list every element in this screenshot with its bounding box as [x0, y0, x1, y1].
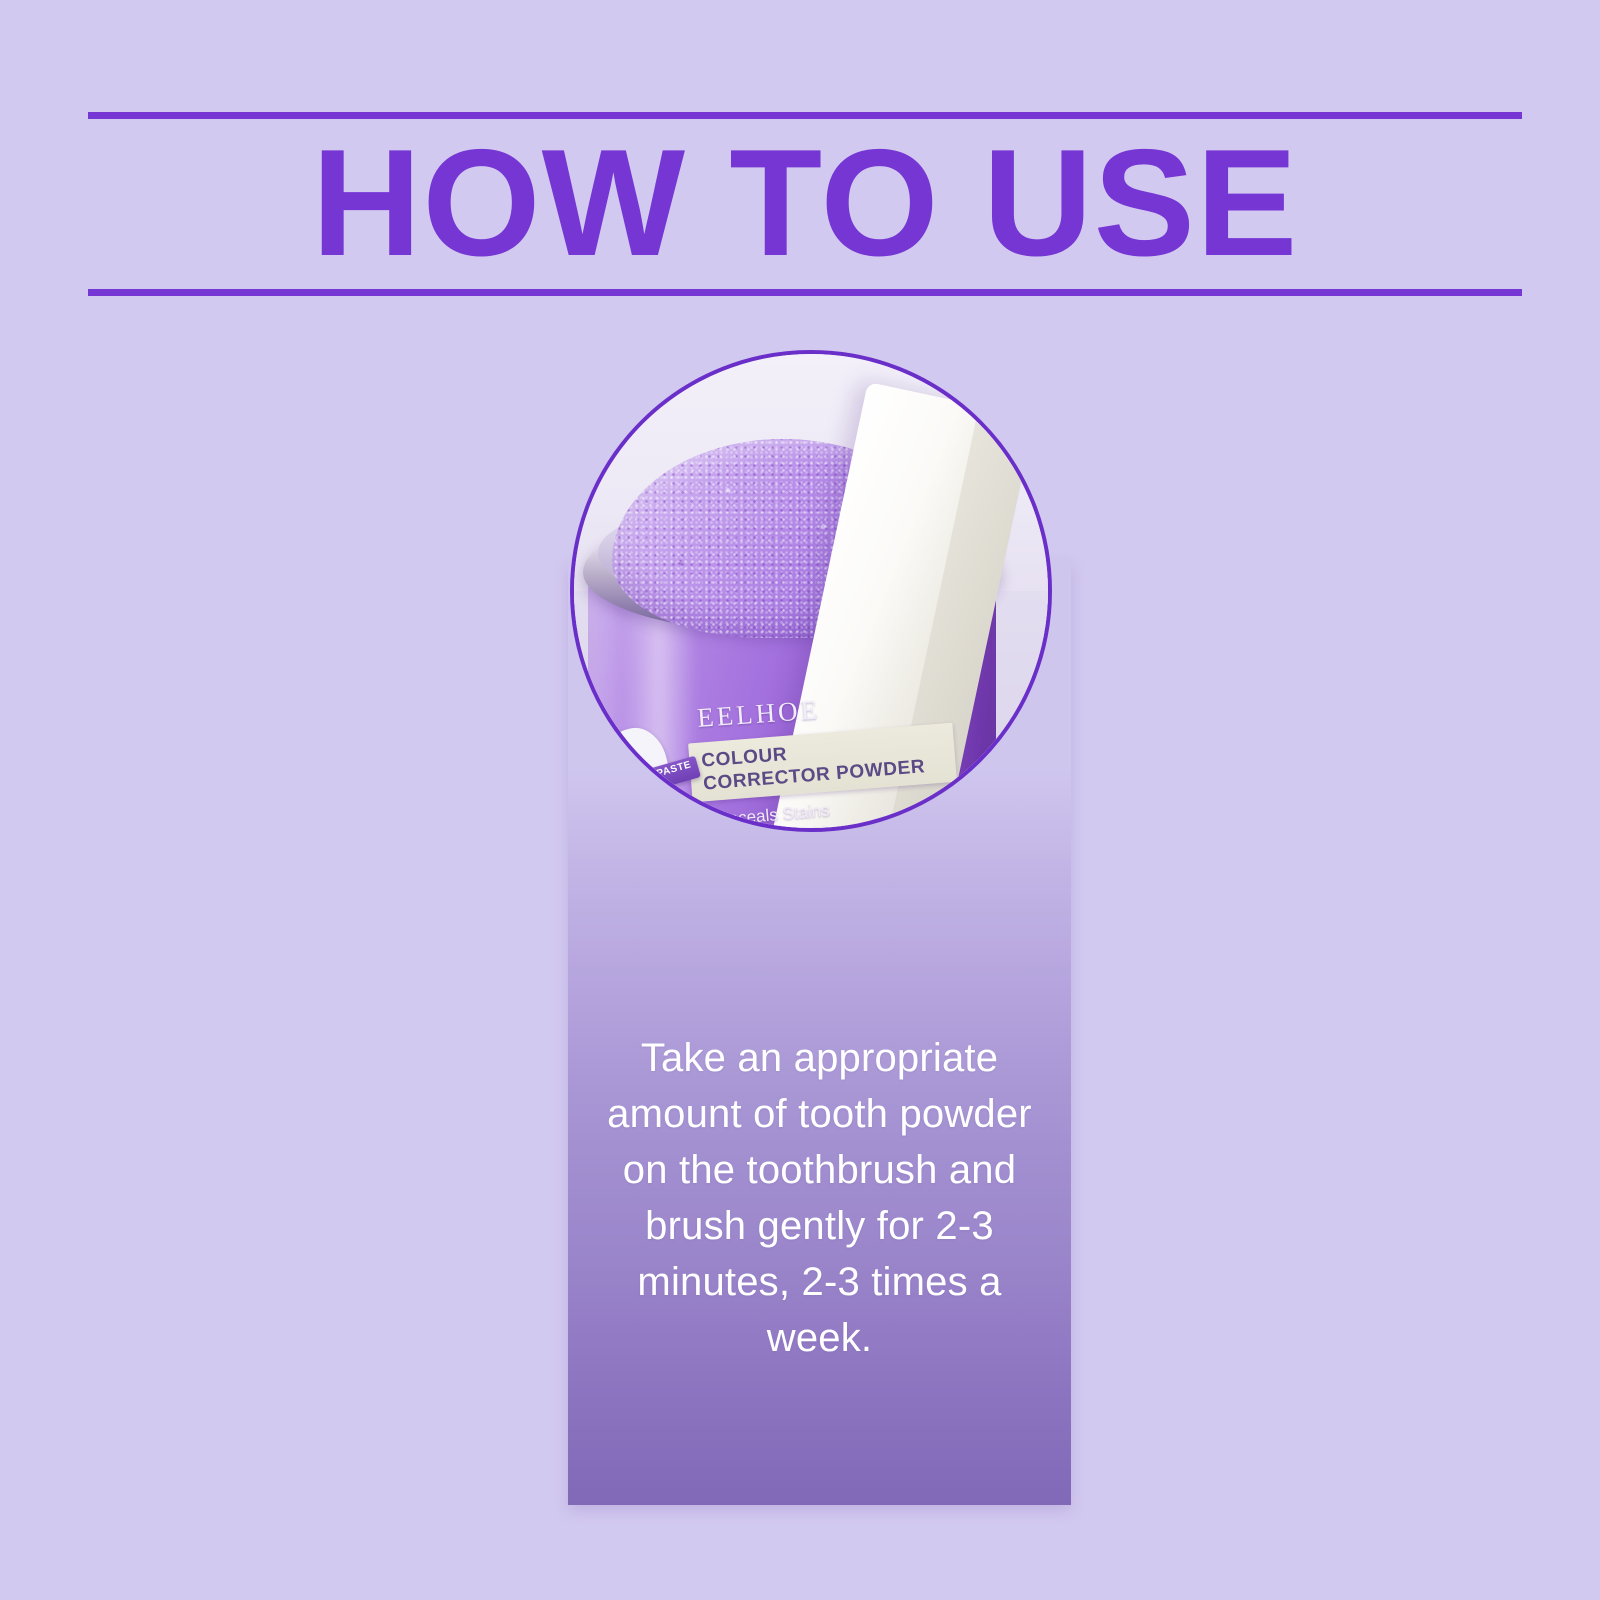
product-photo-circle: EELHOE COLOUR CORRECTOR POWDER ·Conceals…: [570, 350, 1052, 832]
instruction-text: Take an appropriate amount of tooth powd…: [596, 1030, 1043, 1366]
title-rule-bottom: [88, 289, 1522, 296]
header: HOW TO USE: [88, 112, 1522, 302]
page-title: HOW TO USE: [88, 120, 1522, 286]
